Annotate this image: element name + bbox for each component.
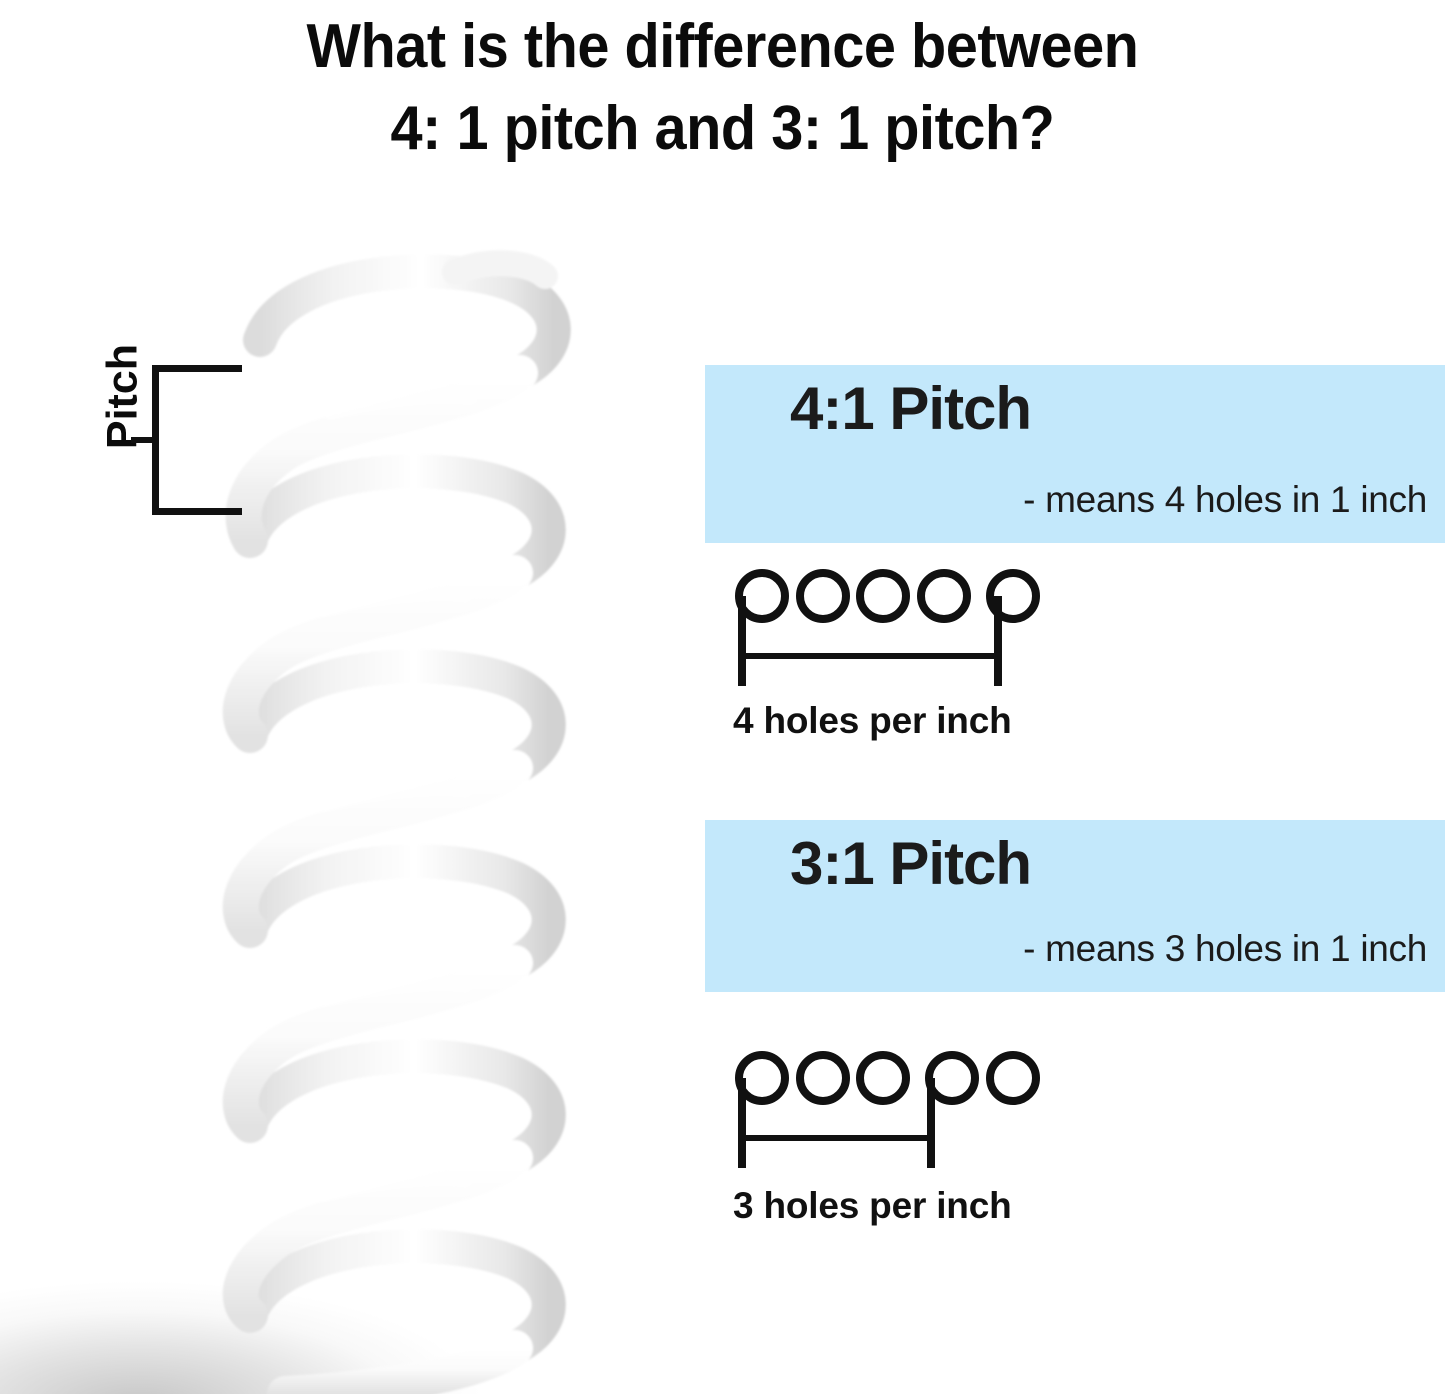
infographic-page: What is the difference between 4: 1 pitc… (0, 0, 1445, 1394)
page-title: What is the difference between 4: 1 pitc… (51, 6, 1395, 170)
pitch-label: Pitch (99, 322, 148, 472)
hole-circle (929, 1055, 975, 1101)
pitch-bracket-bottom-arm (152, 508, 242, 515)
pitch-bracket-top-arm (152, 365, 242, 372)
holes-diagram-4-to-1 (720, 558, 1060, 688)
pitch-bracket-tick (131, 437, 157, 443)
banner-heading-4-to-1: 4:1 Pitch (790, 377, 1031, 440)
banner-4-to-1: 4:1 Pitch - means 4 holes in 1 inch (705, 365, 1445, 543)
holes-diagram-3-to-1 (720, 1040, 1060, 1170)
banner-subtext-4-to-1: - means 4 holes in 1 inch (1023, 479, 1427, 521)
hole-circle (860, 1055, 906, 1101)
banner-3-to-1: 3:1 Pitch - means 3 holes in 1 inch (705, 820, 1445, 992)
banner-subtext-3-to-1: - means 3 holes in 1 inch (1023, 928, 1427, 970)
hole-circle (800, 1055, 846, 1101)
holes-caption-4-to-1: 4 holes per inch (733, 700, 1012, 742)
holes-caption-3-to-1: 3 holes per inch (733, 1185, 1012, 1227)
banner-heading-3-to-1: 3:1 Pitch (790, 832, 1031, 895)
hole-circle (860, 573, 906, 619)
hole-circle (921, 573, 967, 619)
hole-circle (800, 573, 846, 619)
hole-circle (990, 1055, 1036, 1101)
